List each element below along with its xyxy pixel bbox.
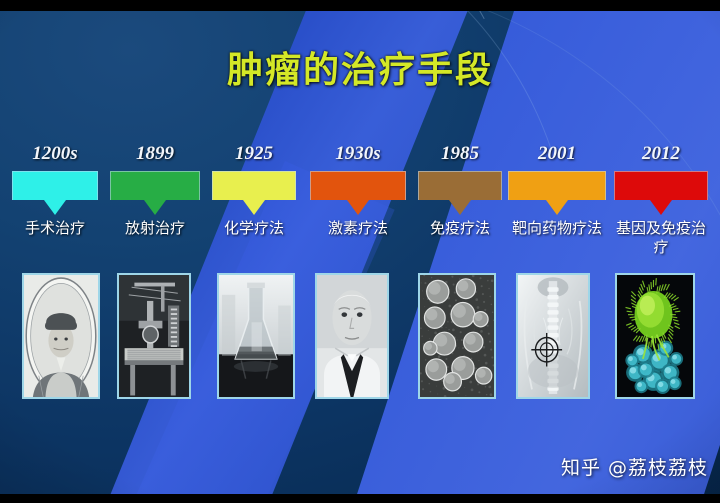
- timeline-year: 1985: [418, 141, 502, 167]
- timeline-year: 1200s: [12, 141, 98, 167]
- page-title: 肿瘤的治疗手段: [0, 41, 720, 93]
- timeline-year: 1899: [110, 141, 200, 167]
- timeline-year: 1930s: [310, 141, 406, 167]
- timeline-label: 手术治疗: [12, 219, 98, 238]
- timeline-banner: [508, 171, 606, 200]
- treatment-photo: [315, 273, 389, 399]
- letterbox-bottom: [0, 494, 720, 503]
- timeline-item[interactable]: 1200s手术治疗: [12, 141, 98, 238]
- treatment-photo: [516, 273, 590, 399]
- banner-bar: [212, 171, 296, 200]
- banner-bar: [508, 171, 606, 200]
- banner-notch-icon: [650, 200, 672, 215]
- banner-notch-icon: [449, 200, 471, 215]
- banner-notch-icon: [546, 200, 568, 215]
- timeline-item[interactable]: 1899放射治疗: [110, 141, 200, 238]
- slide-canvas: 肿瘤的治疗手段 1200s手术治疗1899放射治疗1925化学疗法1930s激素…: [0, 11, 720, 494]
- timeline-item[interactable]: 2001靶向药物疗法: [508, 141, 606, 238]
- timeline-item[interactable]: 1930s激素疗法: [310, 141, 406, 238]
- timeline-year: 2012: [614, 141, 708, 167]
- presentation-slide: 肿瘤的治疗手段 1200s手术治疗1899放射治疗1925化学疗法1930s激素…: [0, 0, 720, 503]
- treatment-photo: [117, 273, 191, 399]
- photo-strip: [0, 273, 720, 403]
- banner-notch-icon: [243, 200, 265, 215]
- timeline-label: 靶向药物疗法: [508, 219, 606, 238]
- timeline-item[interactable]: 1985免疫疗法: [418, 141, 502, 238]
- banner-bar: [614, 171, 708, 200]
- timeline-item[interactable]: 2012基因及免疫治疗: [614, 141, 708, 257]
- treatment-timeline: 1200s手术治疗1899放射治疗1925化学疗法1930s激素疗法1985免疫…: [0, 141, 720, 271]
- treatment-photo: [22, 273, 100, 399]
- letterbox-top: [0, 0, 720, 11]
- timeline-banner: [614, 171, 708, 200]
- timeline-label: 基因及免疫治疗: [614, 219, 708, 257]
- timeline-banner: [110, 171, 200, 200]
- timeline-year: 1925: [212, 141, 296, 167]
- banner-bar: [310, 171, 406, 200]
- banner-bar: [418, 171, 502, 200]
- timeline-banner: [418, 171, 502, 200]
- timeline-label: 激素疗法: [310, 219, 406, 238]
- banner-notch-icon: [144, 200, 166, 215]
- banner-notch-icon: [347, 200, 369, 215]
- banner-notch-icon: [44, 200, 66, 215]
- timeline-banner: [12, 171, 98, 200]
- treatment-photo: [615, 273, 695, 399]
- timeline-banner: [310, 171, 406, 200]
- banner-bar: [110, 171, 200, 200]
- watermark: 知乎 @荔枝荔枝: [561, 453, 708, 480]
- timeline-item[interactable]: 1925化学疗法: [212, 141, 296, 238]
- timeline-banner: [212, 171, 296, 200]
- timeline-label: 放射治疗: [110, 219, 200, 238]
- treatment-photo: [217, 273, 295, 399]
- timeline-label: 免疫疗法: [418, 219, 502, 238]
- treatment-photo: [418, 273, 496, 399]
- timeline-year: 2001: [508, 141, 606, 167]
- timeline-label: 化学疗法: [212, 219, 296, 238]
- banner-bar: [12, 171, 98, 200]
